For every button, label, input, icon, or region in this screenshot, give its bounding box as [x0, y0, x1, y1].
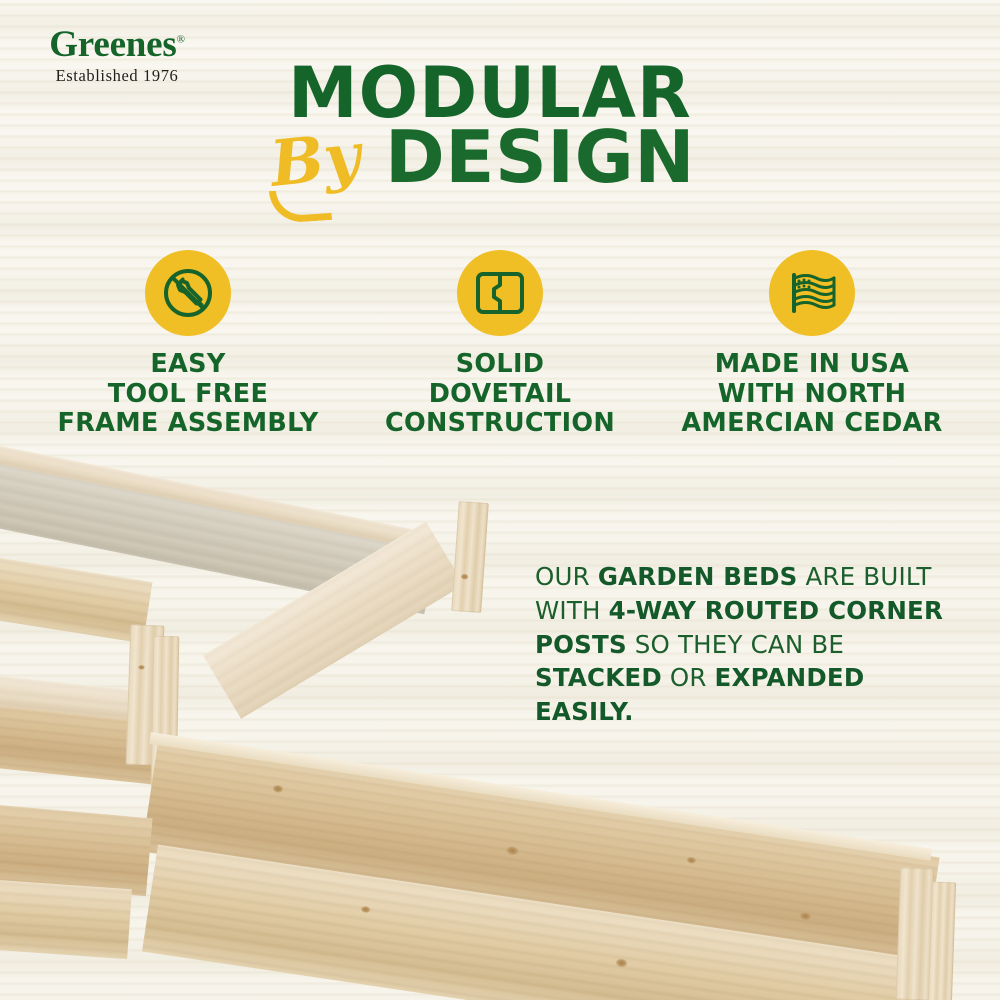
feature-badge: [145, 250, 231, 336]
registered-trademark-icon: ®: [177, 34, 185, 46]
screw-hole: [913, 960, 922, 969]
feature-label: MADE IN USA WITH NORTH AMERCIAN CEDAR: [681, 350, 942, 439]
wood-knot: [272, 784, 284, 794]
screw-hole: [918, 896, 927, 905]
brand-name-text: Greenes: [49, 24, 176, 65]
brand-logo: Greenes® Established 1976: [32, 26, 202, 86]
usa-flag-icon: [786, 269, 838, 317]
feature-label: SOLID DOVETAIL CONSTRUCTION: [385, 350, 615, 439]
body-copy-text: OR: [662, 663, 715, 692]
body-copy: OUR GARDEN BEDS ARE BUILT WITH 4-WAY ROU…: [535, 560, 965, 729]
body-copy-emphasis: STACKED: [535, 663, 662, 692]
feature-item-made-in-usa: MADE IN USA WITH NORTH AMERCIAN CEDAR: [662, 250, 962, 439]
wood-knot: [686, 856, 697, 864]
body-copy-text: OUR: [535, 562, 598, 591]
feature-item-tool-free: EASY TOOL FREE FRAME ASSEMBLY: [38, 250, 338, 439]
feature-item-dovetail: SOLID DOVETAIL CONSTRUCTION: [350, 250, 650, 439]
wood-knot: [505, 845, 519, 856]
dovetail-joint-icon: [474, 269, 526, 317]
wood-knot: [799, 911, 812, 921]
corner-post-lower-right-front: [928, 882, 956, 1000]
brand-name: Greenes®: [49, 26, 185, 63]
wood-knot: [460, 573, 468, 580]
brand-tagline: Established 1976: [32, 66, 202, 86]
wood-knot: [138, 665, 145, 670]
board-left-lower-2: [0, 876, 132, 959]
corner-post-upper-right: [451, 501, 489, 613]
poster: Greenes® Established 1976 MODULAR DESIGN…: [0, 0, 1000, 1000]
feature-badge: [457, 250, 543, 336]
headline: MODULAR DESIGN By: [268, 58, 768, 223]
headline-script-by: By: [267, 124, 363, 196]
wood-knot: [615, 958, 628, 969]
feature-badge: [769, 250, 855, 336]
no-tools-wrench-icon: [160, 265, 216, 321]
wood-knot: [360, 905, 371, 913]
headline-line-design: DESIGN: [385, 121, 695, 193]
body-copy-text: SO THEY CAN BE: [627, 630, 844, 659]
body-copy-emphasis: GARDEN BEDS: [598, 562, 798, 591]
feature-list: EASY TOOL FREE FRAME ASSEMBLY SOLID DOVE…: [0, 250, 1000, 439]
script-swash-flourish: [269, 187, 332, 224]
feature-label: EASY TOOL FREE FRAME ASSEMBLY: [58, 350, 319, 439]
